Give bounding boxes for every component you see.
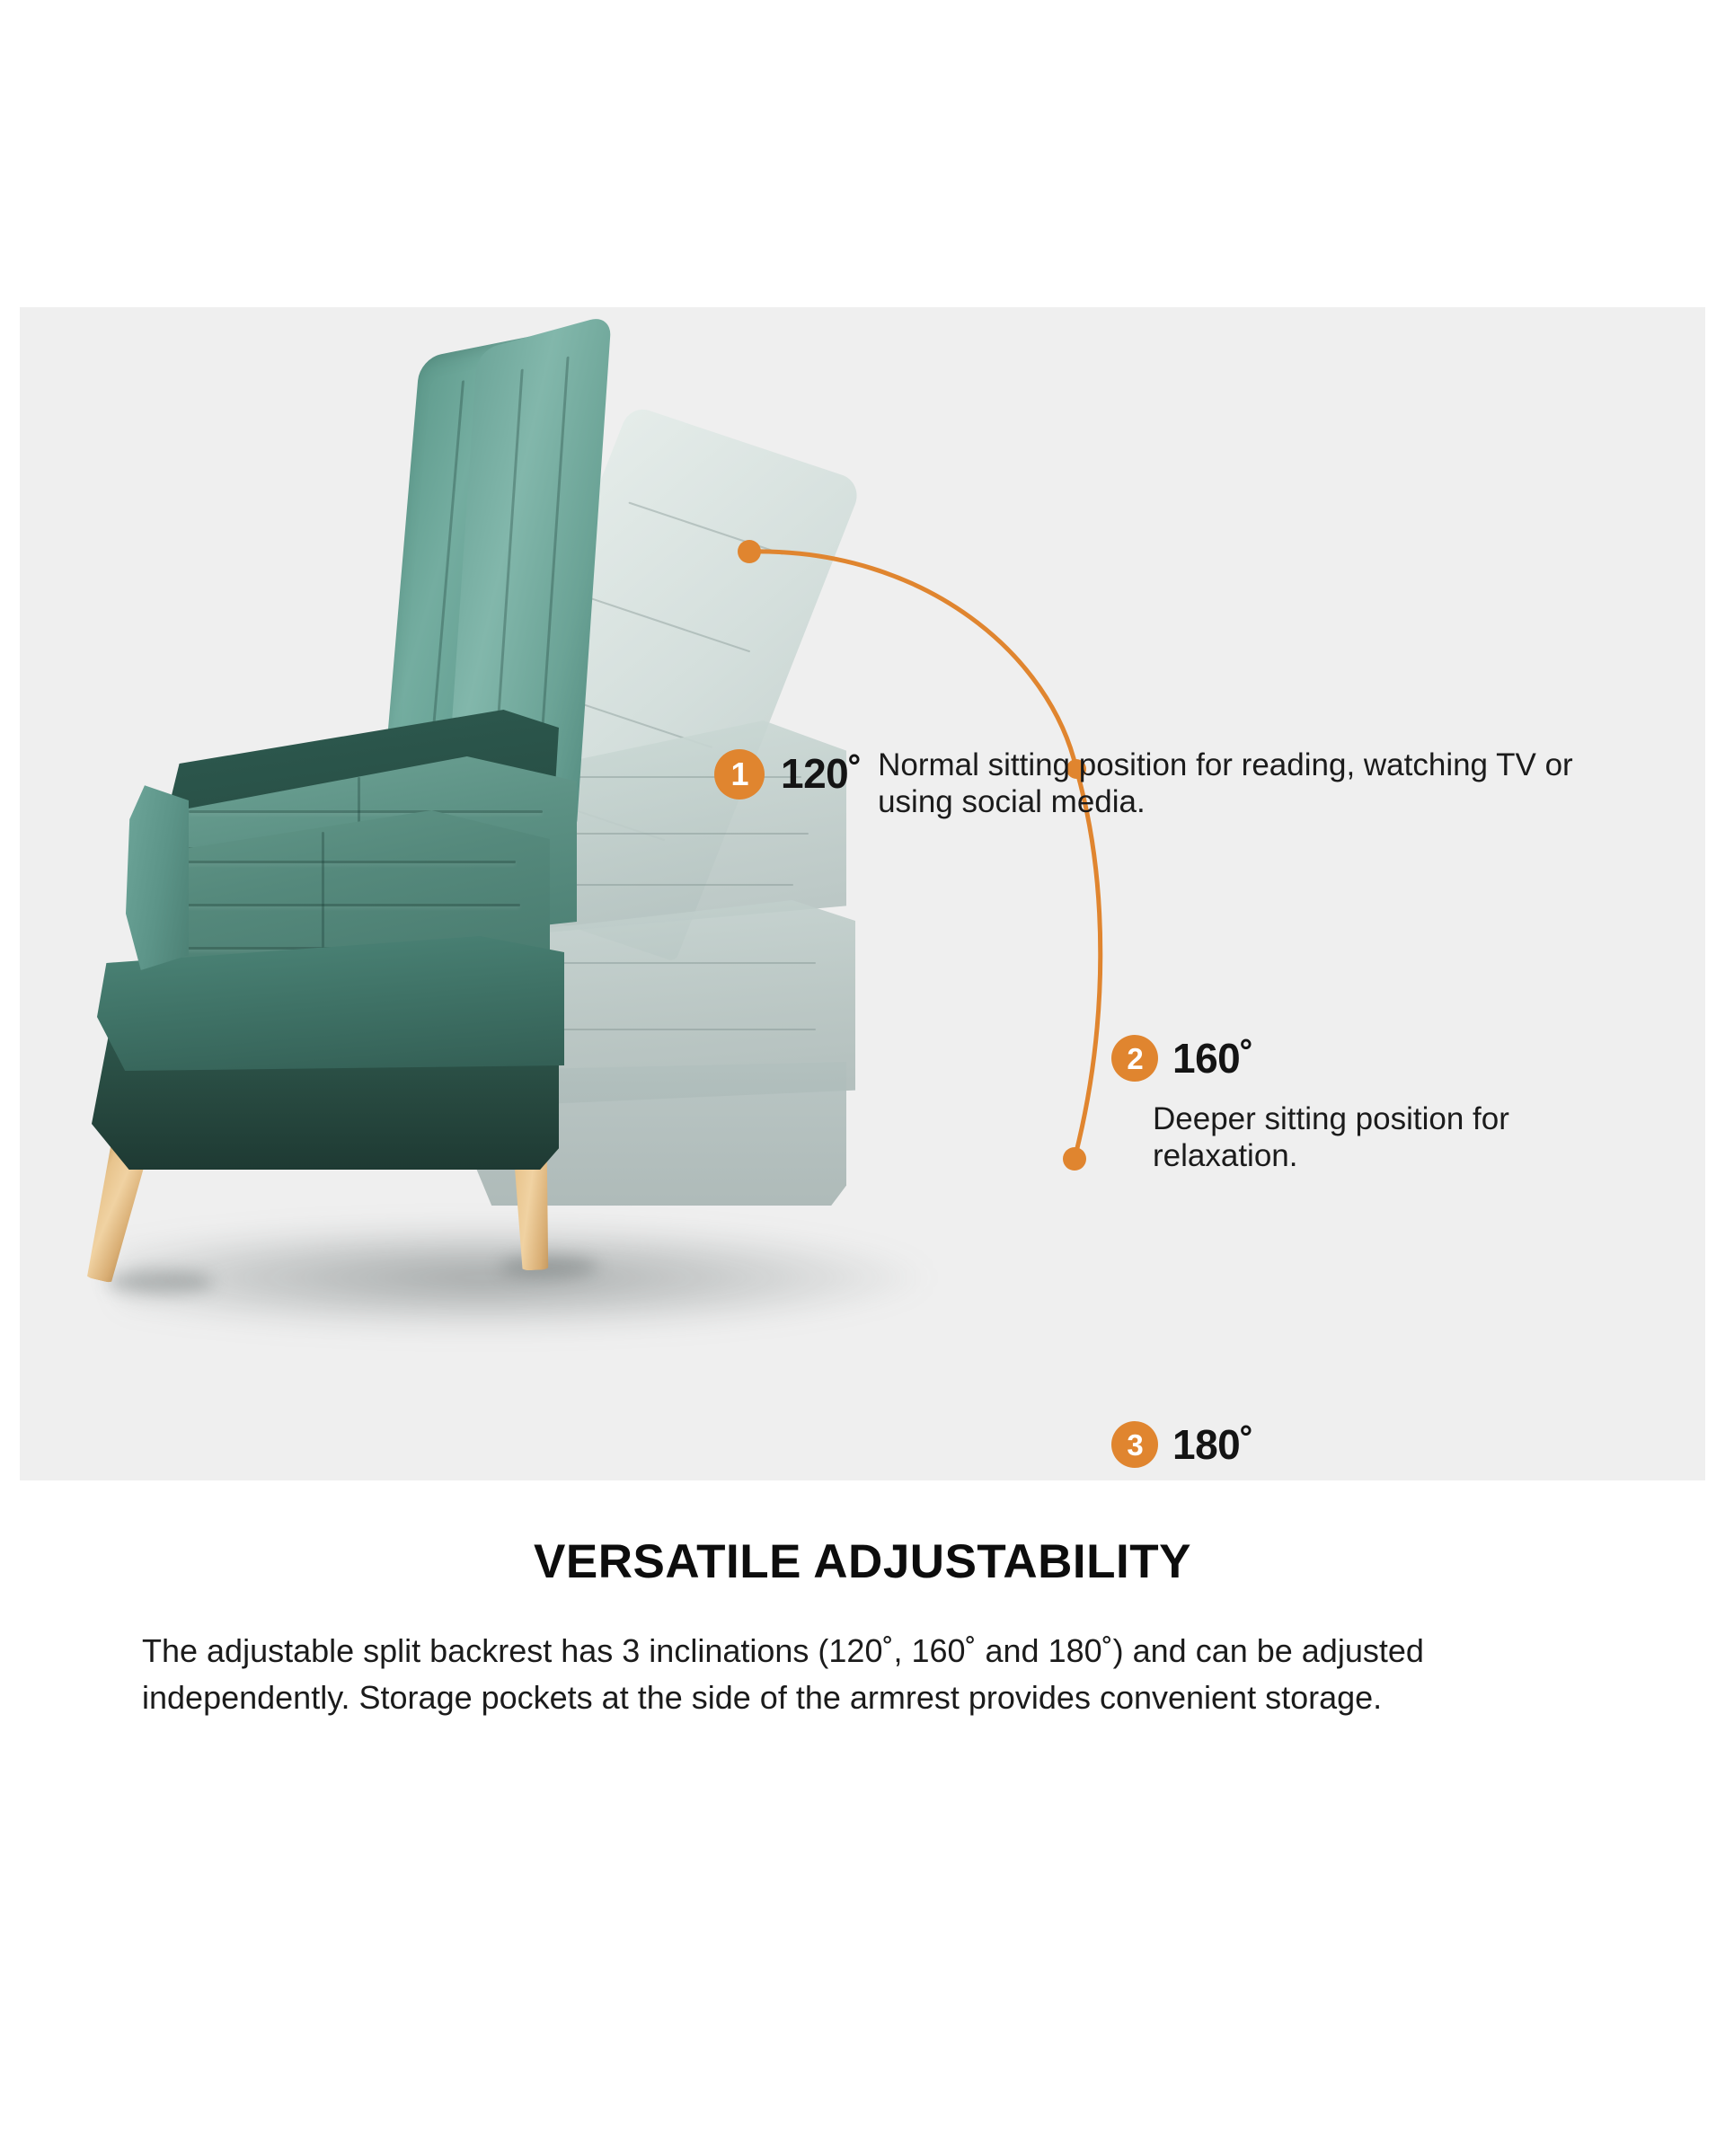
leg-shadow-right xyxy=(500,1256,598,1277)
armrest-left xyxy=(126,782,189,970)
callout-2-badge: 2 xyxy=(1111,1035,1158,1082)
hero-panel: 1 120˚ Normal sitting position for readi… xyxy=(20,307,1705,1480)
product-image xyxy=(20,307,1080,1480)
infographic-page: 1 120˚ Normal sitting position for readi… xyxy=(0,0,1725,2156)
callout-1-angle: 120˚ xyxy=(781,753,862,794)
leg-shadow-left xyxy=(106,1270,214,1294)
callout-1-description: Normal sitting position for reading, wat… xyxy=(878,747,1597,820)
callout-2-description: Deeper sitting position for relaxation. xyxy=(1153,1101,1620,1174)
callout-3-badge: 3 xyxy=(1111,1421,1158,1468)
body-paragraph: The adjustable split backrest has 3 incl… xyxy=(142,1628,1597,1721)
callout-3-angle: 180˚ xyxy=(1172,1424,1253,1465)
callout-1-badge: 1 xyxy=(714,749,765,800)
callout-2-angle: 160˚ xyxy=(1172,1038,1253,1079)
headline: VERSATILE ADJUSTABILITY xyxy=(0,1534,1725,1589)
callout-1: 1 120˚ Normal sitting position for readi… xyxy=(714,746,1597,820)
callout-3: 3 180˚ Flat bed position for napping and… xyxy=(1111,1421,1620,1480)
callout-2: 2 160˚ Deeper sitting position for relax… xyxy=(1111,1035,1620,1174)
